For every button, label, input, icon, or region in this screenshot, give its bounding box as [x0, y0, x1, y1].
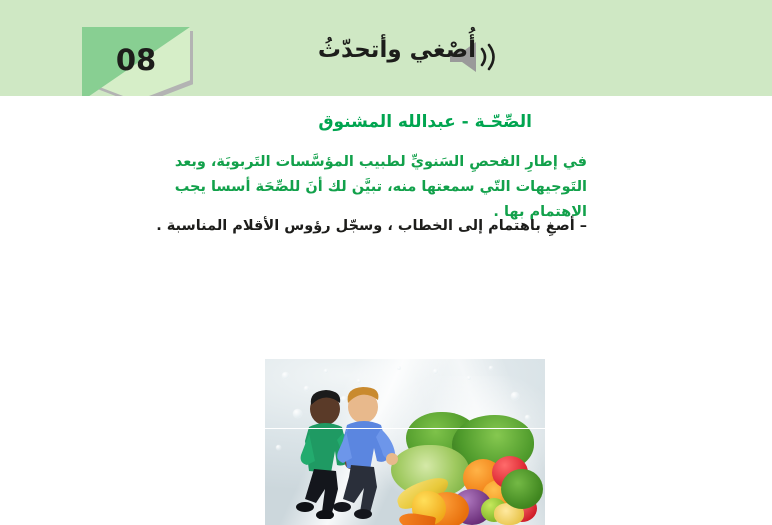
broccoli-small-icon [501, 469, 543, 509]
health-photo [265, 359, 545, 525]
lesson-instruction-text: – أصغِ باهتمام إلى الخطاب ، وسجّل رؤوس ا… [156, 218, 587, 234]
section-heading: الصِّحّـة - عبدالله المشنوق [318, 112, 532, 132]
lesson-title: أُصْغي وأتحدّثُ [318, 37, 476, 63]
unit-number: 08 [82, 27, 190, 93]
content-area: الصِّحّـة - عبدالله المشنوق في إطارِ الف… [0, 96, 772, 429]
lesson-title-group: أُصْغي وأتحدّثُ [290, 34, 510, 80]
runner-blue [323, 387, 405, 519]
lesson-instruction: – أصغِ باهتمام إلى الخطاب ، وسجّل رؤوس ا… [137, 214, 587, 238]
unit-badge: 08 [82, 27, 190, 107]
section-heading-text: الصِّحّـة - عبدالله المشنوق [318, 112, 532, 132]
lesson-paragraph-text: في إطارِ الفحصِ السَنويِّ لطبيب المؤسَّس… [175, 154, 587, 220]
